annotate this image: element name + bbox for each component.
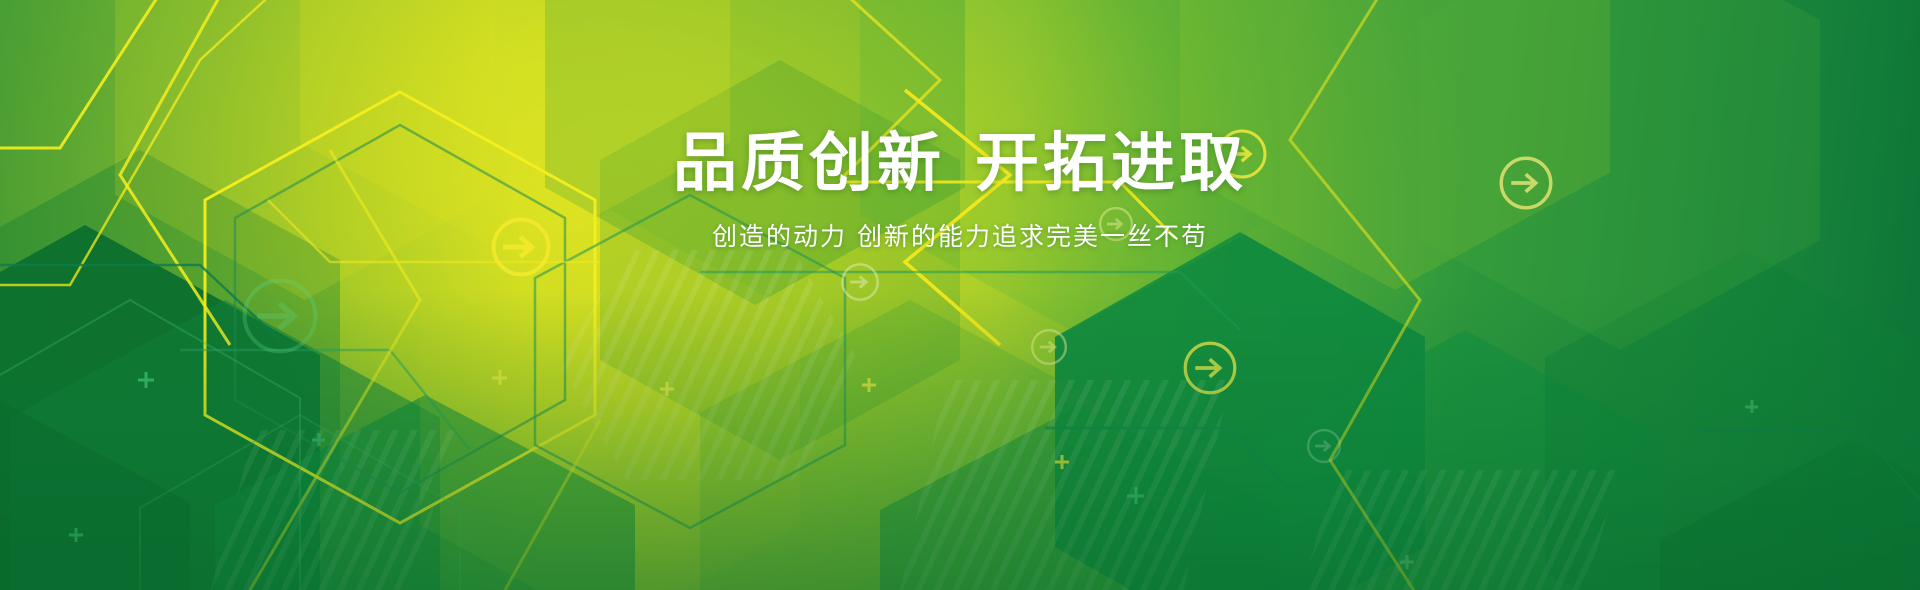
headline-part-two: 开拓进取 (975, 127, 1247, 201)
banner-text-block: 品质创新开拓进取 创造的动力 创新的能力追求完美一丝不苟 (0, 132, 1920, 252)
promotional-banner: 品质创新开拓进取 创造的动力 创新的能力追求完美一丝不苟 (0, 0, 1920, 590)
banner-headline: 品质创新开拓进取 (0, 132, 1920, 196)
headline-part-one: 品质创新 (673, 127, 945, 201)
banner-subheadline: 创造的动力 创新的能力追求完美一丝不苟 (0, 222, 1920, 252)
background-bottom-shade (0, 290, 1920, 590)
